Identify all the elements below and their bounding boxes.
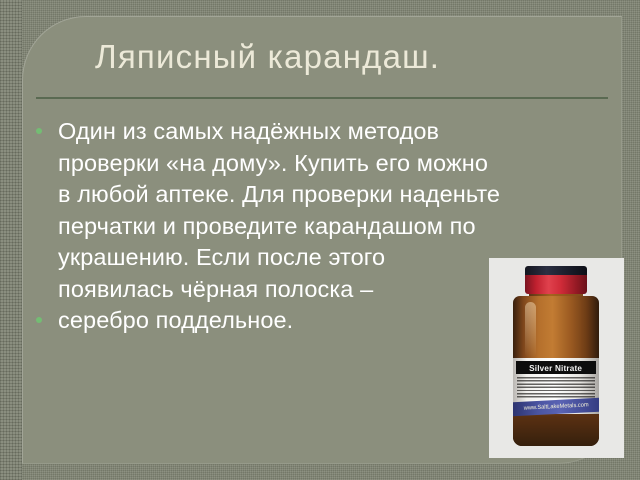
title-divider-rule: [36, 97, 608, 99]
label-title-band: Silver Nitrate: [516, 361, 596, 374]
list-item: серебро поддельное.: [36, 305, 506, 337]
label-product-name: Silver Nitrate: [529, 363, 582, 373]
label-fine-print: [517, 377, 595, 399]
list-item: Один из самых надёжных методов проверки …: [36, 116, 506, 305]
bullet-text: серебро поддельное.: [58, 305, 506, 337]
slide-body: Один из самых надёжных методов проверки …: [36, 116, 506, 337]
slide-left-gutter: [0, 0, 22, 480]
bottle-label: Silver Nitrate www.SaltLakeMetals.com: [513, 358, 599, 414]
slide-title: Ляписный карандаш.: [95, 38, 595, 76]
silver-nitrate-bottle-photo: Silver Nitrate www.SaltLakeMetals.com: [489, 258, 624, 458]
bottle-cap-rim: [525, 266, 587, 275]
label-url-band: www.SaltLakeMetals.com: [513, 398, 599, 417]
presentation-slide: Ляписный карандаш. Один из самых надёжны…: [0, 0, 640, 480]
bullet-point-icon: [36, 305, 58, 323]
bullet-text: Один из самых надёжных методов проверки …: [58, 116, 506, 305]
bullet-point-icon: [36, 116, 58, 134]
bottle-highlight: [525, 302, 536, 358]
label-website-url: www.SaltLakeMetals.com: [524, 402, 589, 411]
